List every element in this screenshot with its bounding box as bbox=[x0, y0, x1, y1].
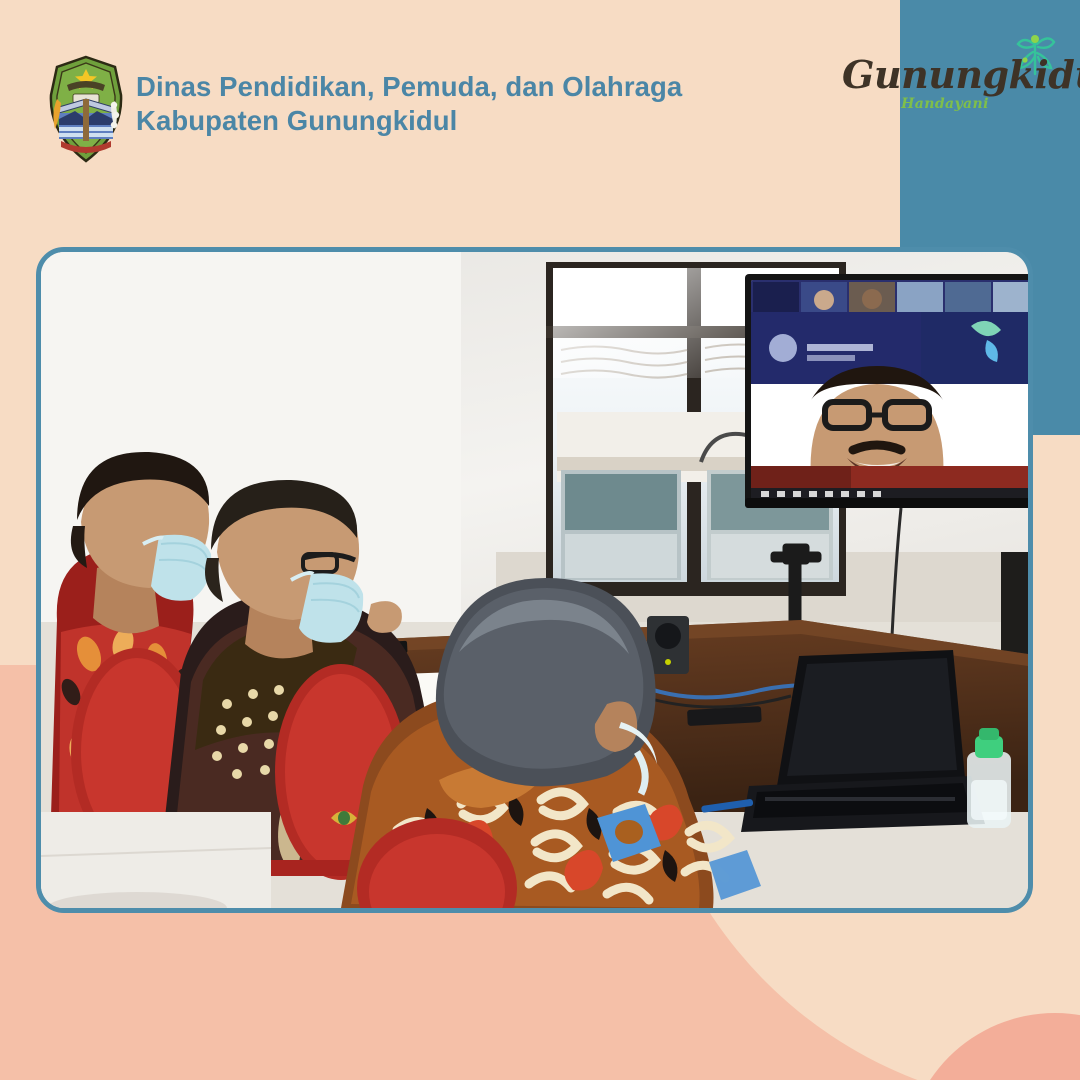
gunungkidul-brand-logo: Gunungkidul Handayani bbox=[842, 34, 1062, 130]
poster-header: Dinas Pendidikan, Pemuda, dan Olahraga K… bbox=[0, 0, 1080, 210]
title-line-1: Dinas Pendidikan, Pemuda, dan Olahraga bbox=[136, 70, 756, 104]
brand-wordmark: Gunungkidul bbox=[842, 52, 1042, 97]
background-peach-right-strip bbox=[1032, 435, 1080, 895]
gunungkidul-coat-of-arms-icon bbox=[45, 55, 127, 163]
poster-canvas: Dinas Pendidikan, Pemuda, dan Olahraga K… bbox=[0, 0, 1080, 1080]
title-line-2: Kabupaten Gunungkidul bbox=[136, 104, 756, 138]
poster-footer: @dikpora_gk pendidikan.gunungkidulkab.go… bbox=[0, 940, 1080, 1060]
meeting-photo bbox=[36, 247, 1033, 913]
brand-tagline: Handayani bbox=[850, 96, 1040, 112]
page-title: Dinas Pendidikan, Pemuda, dan Olahraga K… bbox=[136, 70, 756, 138]
